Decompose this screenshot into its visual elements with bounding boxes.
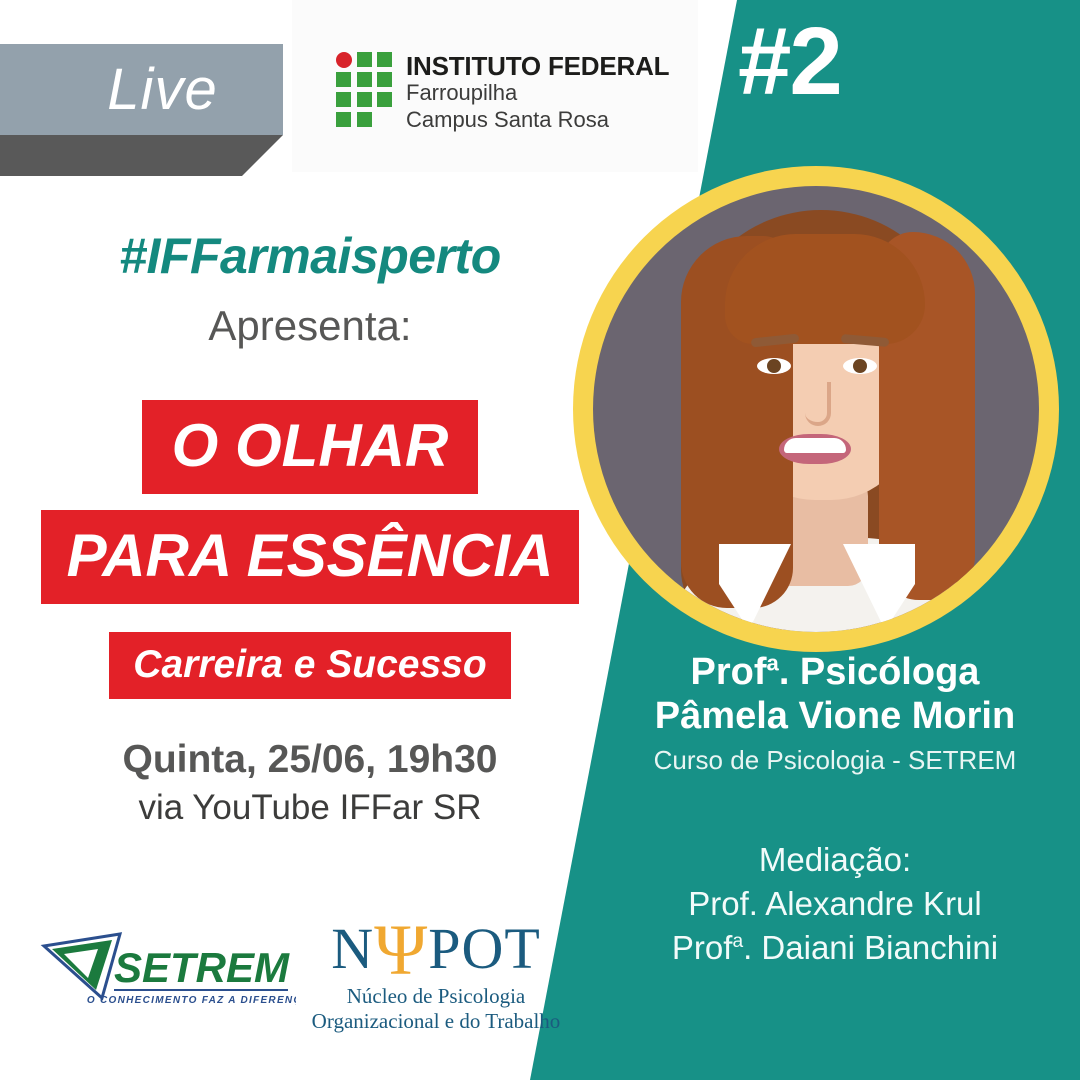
live-ribbon-label: Live xyxy=(0,44,283,135)
setrem-tagline: O CONHECIMENTO FAZ A DIFERENÇA! xyxy=(87,995,296,1006)
portrait-eye-left xyxy=(757,358,791,374)
mediation-person-2-prefix: Prof xyxy=(672,929,733,966)
mediation-person-2-ordinal: a xyxy=(732,931,743,952)
presents-label: Apresenta: xyxy=(0,305,620,347)
npot-letter-n: N xyxy=(331,916,374,981)
npot-subtitle-line-2: Organizacional e do Trabalho xyxy=(310,1009,562,1034)
issue-number-badge: #2 xyxy=(738,14,841,110)
speaker-role-suffix: . Psicóloga xyxy=(779,651,980,693)
if-logo-square xyxy=(336,92,351,107)
mediation-label: Mediação: xyxy=(600,838,1070,882)
event-title-line-2: PARA ESSÊNCIA xyxy=(41,510,580,604)
event-channel: via YouTube IFFar SR xyxy=(0,790,620,825)
mediation-person-2: Profa. Daiani Bianchini xyxy=(600,926,1070,970)
speaker-name: Pâmela Vione Morin xyxy=(600,694,1070,738)
setrem-logo-svg: SETREM O CONHECIMENTO FAZ A DIFERENÇA! xyxy=(38,924,296,1006)
setrem-triangle-icon xyxy=(44,934,120,998)
speaker-info: Profa. Psicóloga Pâmela Vione Morin Curs… xyxy=(600,650,1070,778)
institute-logo-text: INSTITUTO FEDERAL Farroupilha Campus San… xyxy=(406,52,669,134)
mediation-info: Mediação: Prof. Alexandre Krul Profa. Da… xyxy=(600,838,1070,970)
setrem-wordmark: SETREM xyxy=(114,944,290,991)
portrait-iris-left xyxy=(767,359,781,373)
npot-subtitle-line-1: Núcleo de Psicologia xyxy=(310,984,562,1009)
if-logo-square xyxy=(357,92,372,107)
npot-psi-icon: Ψ xyxy=(374,910,428,990)
institute-unit: Farroupilha xyxy=(406,80,669,107)
if-logo-red-dot-icon xyxy=(336,52,352,68)
speaker-role-prefix: Prof xyxy=(691,651,767,693)
if-logo-square xyxy=(377,92,392,107)
speaker-portrait-photo xyxy=(593,186,1039,632)
npot-logo: NΨPOT Núcleo de Psicologia Organizaciona… xyxy=(310,920,562,1016)
campaign-hashtag: #IFFarmaisperto xyxy=(0,231,620,281)
portrait-teeth xyxy=(784,438,846,453)
if-logo-square xyxy=(336,72,351,87)
live-ribbon: Live xyxy=(0,44,283,135)
speaker-role-ordinal: a xyxy=(767,650,779,675)
speaker-course: Curso de Psicologia - SETREM xyxy=(600,744,1070,778)
institute-campus: Campus Santa Rosa xyxy=(406,107,669,134)
event-datetime: Quinta, 25/06, 19h30 xyxy=(0,740,620,779)
institute-name: INSTITUTO FEDERAL xyxy=(406,53,669,80)
npot-wordmark: NΨPOT xyxy=(310,920,562,978)
mediation-person-1: Prof. Alexandre Krul xyxy=(600,882,1070,926)
if-logo-square xyxy=(357,72,372,87)
setrem-logo: SETREM O CONHECIMENTO FAZ A DIFERENÇA! xyxy=(38,924,296,1006)
if-logo-square xyxy=(377,72,392,87)
if-logo-square xyxy=(357,112,372,127)
live-ribbon-shadow xyxy=(0,135,283,176)
event-flyer: Live INSTITUTO FEDERAL Farroupilha Campu… xyxy=(0,0,1080,1080)
if-logo-square xyxy=(336,112,351,127)
if-logo-mark-icon xyxy=(336,52,392,128)
event-subtitle: Carreira e Sucesso xyxy=(109,632,510,699)
speaker-portrait-ring xyxy=(573,166,1059,652)
portrait-nose xyxy=(805,382,831,426)
portrait-hair-fringe xyxy=(725,234,925,344)
portrait-iris-right xyxy=(853,359,867,373)
event-title-line-1: O OLHAR xyxy=(142,400,479,494)
mediation-person-2-suffix: . Daiani Bianchini xyxy=(743,929,998,966)
event-title-group: O OLHAR PARA ESSÊNCIA Carreira e Sucesso xyxy=(0,400,620,699)
if-logo-square xyxy=(357,52,372,67)
if-logo-square xyxy=(377,52,392,67)
portrait-mouth xyxy=(779,434,851,464)
portrait-eye-right xyxy=(843,358,877,374)
npot-letters-pot: POT xyxy=(428,916,541,981)
instituto-federal-logo: INSTITUTO FEDERAL Farroupilha Campus San… xyxy=(336,52,669,134)
speaker-role: Profa. Psicóloga xyxy=(600,650,1070,694)
